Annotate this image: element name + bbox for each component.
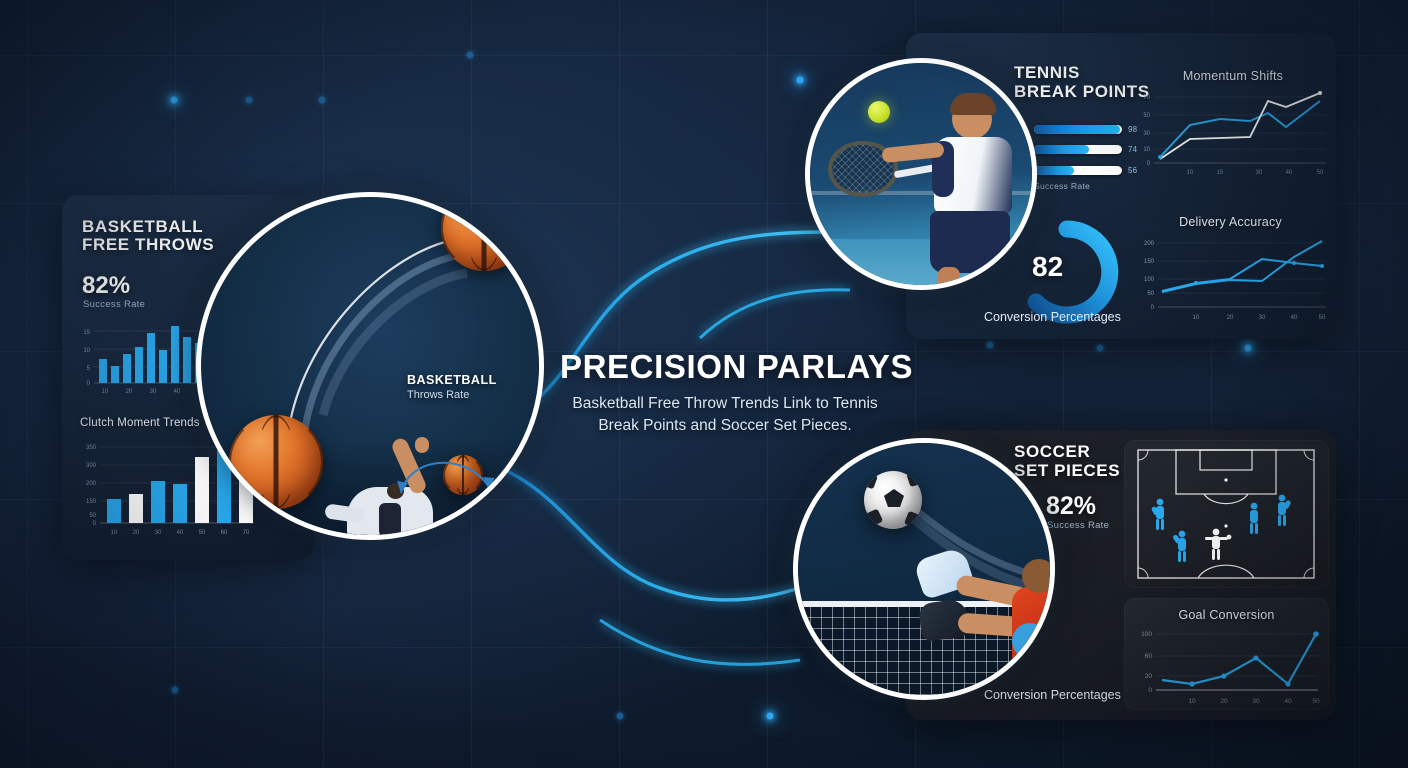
svg-text:150: 150 xyxy=(1144,259,1155,265)
goal-conversion-card: Goal Conversion 10060 200 xyxy=(1124,598,1329,710)
tennis-player-figure xyxy=(908,93,1032,285)
svg-text:10: 10 xyxy=(1143,147,1150,153)
connector-branch-lower xyxy=(600,620,800,664)
svg-text:50: 50 xyxy=(1147,291,1154,297)
svg-text:30: 30 xyxy=(150,389,157,395)
svg-text:50: 50 xyxy=(89,513,96,519)
svg-text:0: 0 xyxy=(1147,161,1151,167)
svg-text:0: 0 xyxy=(1151,305,1155,311)
svg-text:350: 350 xyxy=(86,445,97,451)
tennis-photo xyxy=(810,63,1032,285)
svg-text:20: 20 xyxy=(126,389,133,395)
delivery-chart-title: Delivery Accuracy xyxy=(1128,215,1333,229)
goalkeeper-figure xyxy=(926,543,1050,693)
tennis-bar-1-fill xyxy=(1034,125,1120,134)
svg-text:30: 30 xyxy=(1259,315,1266,321)
svg-text:40: 40 xyxy=(1291,315,1298,321)
tennis-gauge-value: 82 xyxy=(1032,251,1063,283)
infographic-canvas: BASKETBALL FREE THROWS 82% Success Rate … xyxy=(0,0,1408,768)
set-piece-pitch-card xyxy=(1124,440,1329,588)
svg-text:30: 30 xyxy=(1256,170,1263,176)
tennis-gauge-label: Conversion Percentages xyxy=(984,310,1121,324)
svg-text:10: 10 xyxy=(1193,315,1200,321)
soccer-pitch-diagram xyxy=(1124,440,1329,588)
svg-text:15: 15 xyxy=(83,330,90,336)
basketball-title-line2: FREE THROWS xyxy=(82,235,214,254)
basketball-stat-value: 82% xyxy=(82,272,130,300)
tennis-ball xyxy=(868,101,890,123)
basketball-stat-label: Success Rate xyxy=(83,299,145,310)
svg-text:15: 15 xyxy=(1217,170,1224,176)
svg-text:10: 10 xyxy=(111,530,118,536)
soccer-photo xyxy=(798,443,1050,695)
soccer-ball xyxy=(864,471,922,529)
circle-label-title: BASKETBALL xyxy=(407,373,497,387)
page-subtitle-line1: Basketball Free Throw Trends Link to Ten… xyxy=(560,393,890,415)
svg-text:100: 100 xyxy=(1144,277,1155,283)
svg-text:0: 0 xyxy=(1148,687,1152,694)
svg-text:30: 30 xyxy=(1252,698,1260,705)
svg-text:300: 300 xyxy=(86,463,97,469)
svg-text:10: 10 xyxy=(102,389,109,395)
svg-text:50: 50 xyxy=(1317,170,1324,176)
soccer-stat-value: 82% xyxy=(1046,492,1096,521)
svg-text:40: 40 xyxy=(1284,698,1292,705)
pitch-player-marker xyxy=(1151,495,1292,562)
svg-text:10: 10 xyxy=(1187,170,1194,176)
tennis-bar-1 xyxy=(1034,125,1122,134)
momentum-chart-title: Momentum Shifts xyxy=(1128,69,1336,83)
svg-text:150: 150 xyxy=(86,499,97,505)
shot-arc-indicator xyxy=(391,447,511,507)
svg-text:10: 10 xyxy=(1188,698,1196,705)
svg-text:40: 40 xyxy=(1286,170,1293,176)
keeper-accent-swoosh xyxy=(1012,623,1048,659)
center-heading-block: PRECISION PARLAYS Basketball Free Throw … xyxy=(560,348,890,438)
basketball-photo: BASKETBALL Throws Rate xyxy=(201,197,539,535)
svg-text:30: 30 xyxy=(1143,131,1150,137)
tennis-bar-2-fill xyxy=(1034,145,1089,154)
svg-text:5: 5 xyxy=(87,366,91,372)
svg-text:50: 50 xyxy=(1312,698,1320,705)
tennis-bars-label: Success Rate xyxy=(1034,181,1090,191)
chart-goal-conversion: 10060 200 1020 3040 50 xyxy=(1124,624,1329,710)
svg-text:70: 70 xyxy=(1143,95,1150,101)
tennis-bar-3 xyxy=(1034,166,1122,175)
svg-text:0: 0 xyxy=(93,521,97,527)
page-subtitle-line2: Break Points and Soccer Set Pieces. xyxy=(560,415,890,437)
tennis-bar-3-fill xyxy=(1034,166,1074,175)
svg-text:200: 200 xyxy=(86,481,97,487)
pitch-ball-carrier xyxy=(1205,529,1231,560)
chart-momentum-shifts: 7050 3010 0 1015 3040 50 xyxy=(1128,85,1333,180)
svg-text:60: 60 xyxy=(1145,653,1153,660)
svg-text:10: 10 xyxy=(83,348,90,354)
svg-text:0: 0 xyxy=(87,381,91,387)
basketball-photo-circle: BASKETBALL Throws Rate xyxy=(196,192,544,540)
svg-text:200: 200 xyxy=(1144,241,1155,247)
chart-delivery-accuracy: 200150 10050 0 1020 3040 50 xyxy=(1128,231,1333,323)
basketball-title-line1: BASKETBALL xyxy=(82,217,203,236)
soccer-stat-label: Success Rate xyxy=(1047,520,1109,531)
svg-text:20: 20 xyxy=(133,530,140,536)
page-title: PRECISION PARLAYS xyxy=(560,348,890,386)
basketball-circle-label: BASKETBALL Throws Rate xyxy=(407,373,497,401)
svg-text:20: 20 xyxy=(1145,673,1153,680)
svg-text:40: 40 xyxy=(177,530,184,536)
svg-text:100: 100 xyxy=(1141,631,1152,638)
tennis-title-line1: TENNIS xyxy=(1014,63,1080,82)
svg-text:50: 50 xyxy=(1143,113,1150,119)
soccer-photo-circle xyxy=(793,438,1055,700)
svg-text:20: 20 xyxy=(1227,315,1234,321)
connector-branch-upper xyxy=(700,290,850,338)
goal-chart-title: Goal Conversion xyxy=(1124,608,1329,622)
basketball-lower xyxy=(229,415,323,509)
svg-text:50: 50 xyxy=(1319,315,1326,321)
svg-text:20: 20 xyxy=(1220,698,1228,705)
tennis-photo-circle xyxy=(805,58,1037,290)
tennis-bar-2 xyxy=(1034,145,1122,154)
svg-text:40: 40 xyxy=(174,389,181,395)
circle-label-sub: Throws Rate xyxy=(407,389,497,401)
svg-text:30: 30 xyxy=(155,530,162,536)
